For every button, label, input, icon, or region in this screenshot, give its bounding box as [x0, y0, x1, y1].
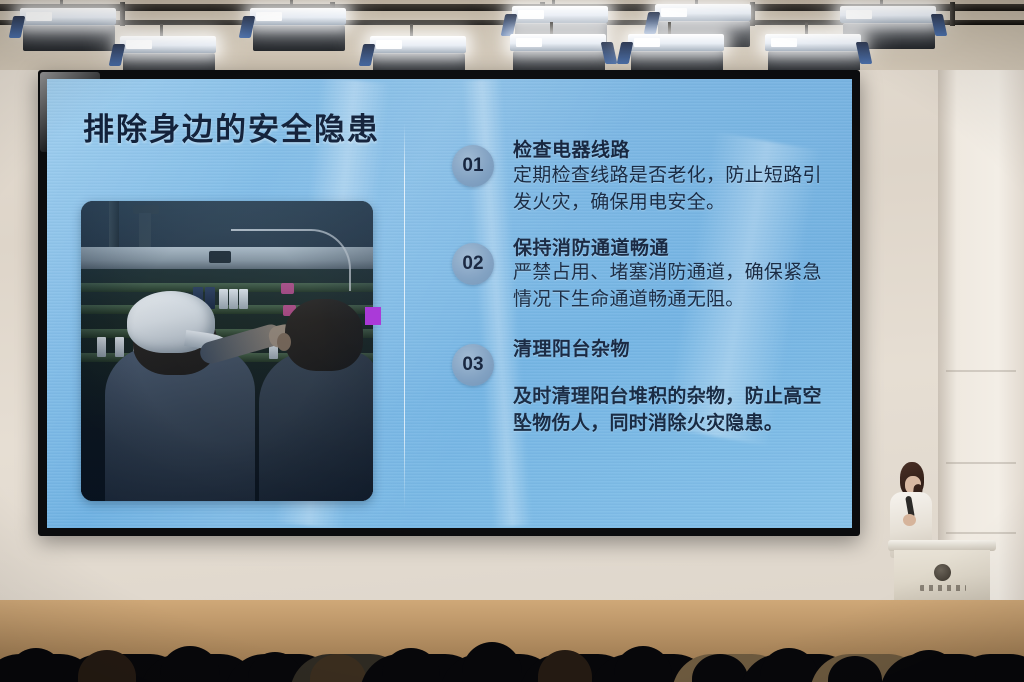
slide-item-list: 01 检查电器线路 定期检查线路是否老化，防止短路引发火灾，确保用电安全。 02…	[452, 139, 822, 448]
item-heading: 清理阳台杂物	[513, 338, 822, 362]
audience-member	[160, 646, 220, 682]
presenter-hand	[903, 514, 916, 526]
wall-pilaster	[938, 70, 1024, 610]
photo-worker-hardhat	[105, 347, 255, 501]
truss-upright	[120, 2, 125, 26]
auditorium-scene: 排除身边的安全隐患	[0, 0, 1024, 682]
slide-photo	[81, 201, 373, 501]
item-number-badge: 02	[452, 243, 494, 285]
slide-item-03: 03 清理阳台杂物 及时清理阳台堆积的杂物，防止高空坠物伤人，同时消除火灾隐患。	[452, 338, 822, 438]
stage-light	[250, 8, 346, 51]
audience-member	[614, 646, 672, 682]
led-screen: 排除身边的安全隐患	[38, 70, 860, 536]
item-number-badge: 03	[452, 344, 494, 386]
podium-nameplate	[920, 585, 966, 591]
item-number-badge: 01	[452, 145, 494, 187]
item-heading: 检查电器线路	[513, 139, 822, 163]
item-description: 严禁占用、堵塞消防通道，确保紧急情况下生命通道畅通无阻。	[513, 260, 822, 314]
item-description: 定期检查线路是否老化，防止短路引发火灾，确保用电安全。	[513, 163, 822, 217]
slide-title: 排除身边的安全隐患	[83, 104, 380, 149]
slide-item-02: 02 保持消防通道畅通 严禁占用、堵塞消防通道，确保紧急情况下生命通道畅通无阻。	[452, 237, 822, 315]
podium-crest-icon	[934, 564, 951, 581]
photo-worker-second	[259, 351, 373, 501]
accent-square	[365, 307, 381, 325]
ceiling-truss	[0, 0, 1024, 78]
stage-light	[20, 8, 116, 51]
item-heading: 保持消防通道畅通	[513, 237, 822, 261]
item-description: 及时清理阳台堆积的杂物，防止高空坠物伤人，同时消除火灾隐患。	[513, 384, 822, 438]
slide-item-01: 01 检查电器线路 定期检查线路是否老化，防止短路引发火灾，确保用电安全。	[452, 139, 822, 217]
column-divider	[404, 123, 405, 509]
presentation-slide: 排除身边的安全隐患	[47, 79, 852, 528]
audience	[0, 596, 1024, 682]
audience-member	[462, 642, 522, 682]
truss-upright	[950, 2, 955, 26]
